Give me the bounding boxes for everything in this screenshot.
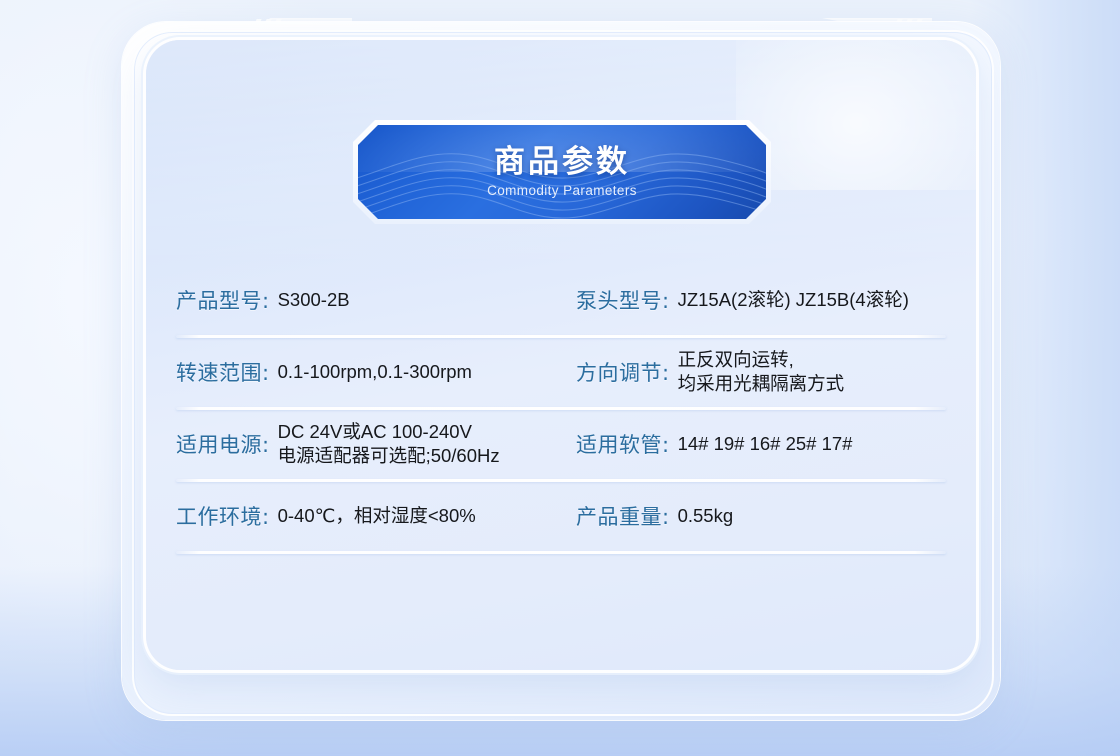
spec-cell-right: 适用软管: 14# 19# 16# 25# 17# <box>576 416 946 472</box>
spec-value: JZ15A(2滚轮) JZ15B(4滚轮) <box>678 288 909 312</box>
spec-list: 产品型号: S300-2B 泵头型号: JZ15A(2滚轮) JZ15B(4滚轮… <box>176 272 946 560</box>
spec-cell-right: 产品重量: 0.55kg <box>576 488 946 544</box>
spec-cell-left: 适用电源: DC 24V或AC 100-240V 电源适配器可选配;50/60H… <box>176 416 576 472</box>
spec-label: 产品型号: <box>176 285 270 315</box>
spec-value: 14# 19# 16# 25# 17# <box>678 432 853 456</box>
spec-value-line: 0.55kg <box>678 504 734 528</box>
banner-text-group: 商品参数 Commodity Parameters <box>358 125 766 219</box>
spec-value: 0.1-100rpm,0.1-300rpm <box>278 360 472 384</box>
spec-value: 0-40℃，相对湿度<80% <box>278 504 476 528</box>
spec-label: 产品重量: <box>576 501 670 531</box>
spec-row: 转速范围: 0.1-100rpm,0.1-300rpm 方向调节: 正反双向运转… <box>176 344 946 400</box>
spec-cell-left: 工作环境: 0-40℃，相对湿度<80% <box>176 488 576 544</box>
spec-cell-left: 产品型号: S300-2B <box>176 272 576 328</box>
spec-label: 适用电源: <box>176 429 270 459</box>
product-spec-page: 商品参数 Commodity Parameters 产品型号: S300-2B … <box>0 0 1120 756</box>
spec-row: 适用电源: DC 24V或AC 100-240V 电源适配器可选配;50/60H… <box>176 416 946 472</box>
spec-value-line: DC 24V或AC 100-240V <box>278 420 500 444</box>
spec-cell-right: 方向调节: 正反双向运转, 均采用光耦隔离方式 <box>576 344 946 400</box>
spec-label: 适用软管: <box>576 429 670 459</box>
row-divider <box>176 335 946 338</box>
row-divider <box>176 407 946 410</box>
spec-value-line: JZ15A(2滚轮) JZ15B(4滚轮) <box>678 288 909 312</box>
spec-value-line: 电源适配器可选配;50/60Hz <box>278 444 500 468</box>
spec-value-line: 正反双向运转, <box>678 348 845 372</box>
row-divider <box>176 479 946 482</box>
spec-value-line: 14# 19# 16# 25# 17# <box>678 432 853 456</box>
spec-row: 工作环境: 0-40℃，相对湿度<80% 产品重量: 0.55kg <box>176 488 946 544</box>
spec-label: 工作环境: <box>176 501 270 531</box>
spec-value-line: S300-2B <box>278 288 350 312</box>
spec-value: 正反双向运转, 均采用光耦隔离方式 <box>678 348 845 395</box>
section-banner: 商品参数 Commodity Parameters <box>353 120 771 224</box>
spec-value-line: 0.1-100rpm,0.1-300rpm <box>278 360 472 384</box>
card-corner-shine <box>736 40 976 190</box>
spec-value: 0.55kg <box>678 504 734 528</box>
spec-value-line: 0-40℃，相对湿度<80% <box>278 504 476 528</box>
spec-row: 产品型号: S300-2B 泵头型号: JZ15A(2滚轮) JZ15B(4滚轮… <box>176 272 946 328</box>
spec-value: DC 24V或AC 100-240V 电源适配器可选配;50/60Hz <box>278 420 500 467</box>
banner-subtitle: Commodity Parameters <box>487 183 637 198</box>
spec-cell-left: 转速范围: 0.1-100rpm,0.1-300rpm <box>176 344 576 400</box>
spec-value-line: 均采用光耦隔离方式 <box>678 372 845 396</box>
spec-label: 转速范围: <box>176 357 270 387</box>
banner-title: 商品参数 <box>494 146 630 179</box>
row-divider <box>176 551 946 554</box>
spec-label: 泵头型号: <box>576 285 670 315</box>
spec-cell-right: 泵头型号: JZ15A(2滚轮) JZ15B(4滚轮) <box>576 272 946 328</box>
banner-body: 商品参数 Commodity Parameters <box>358 125 766 219</box>
spec-value: S300-2B <box>278 288 350 312</box>
spec-label: 方向调节: <box>576 357 670 387</box>
